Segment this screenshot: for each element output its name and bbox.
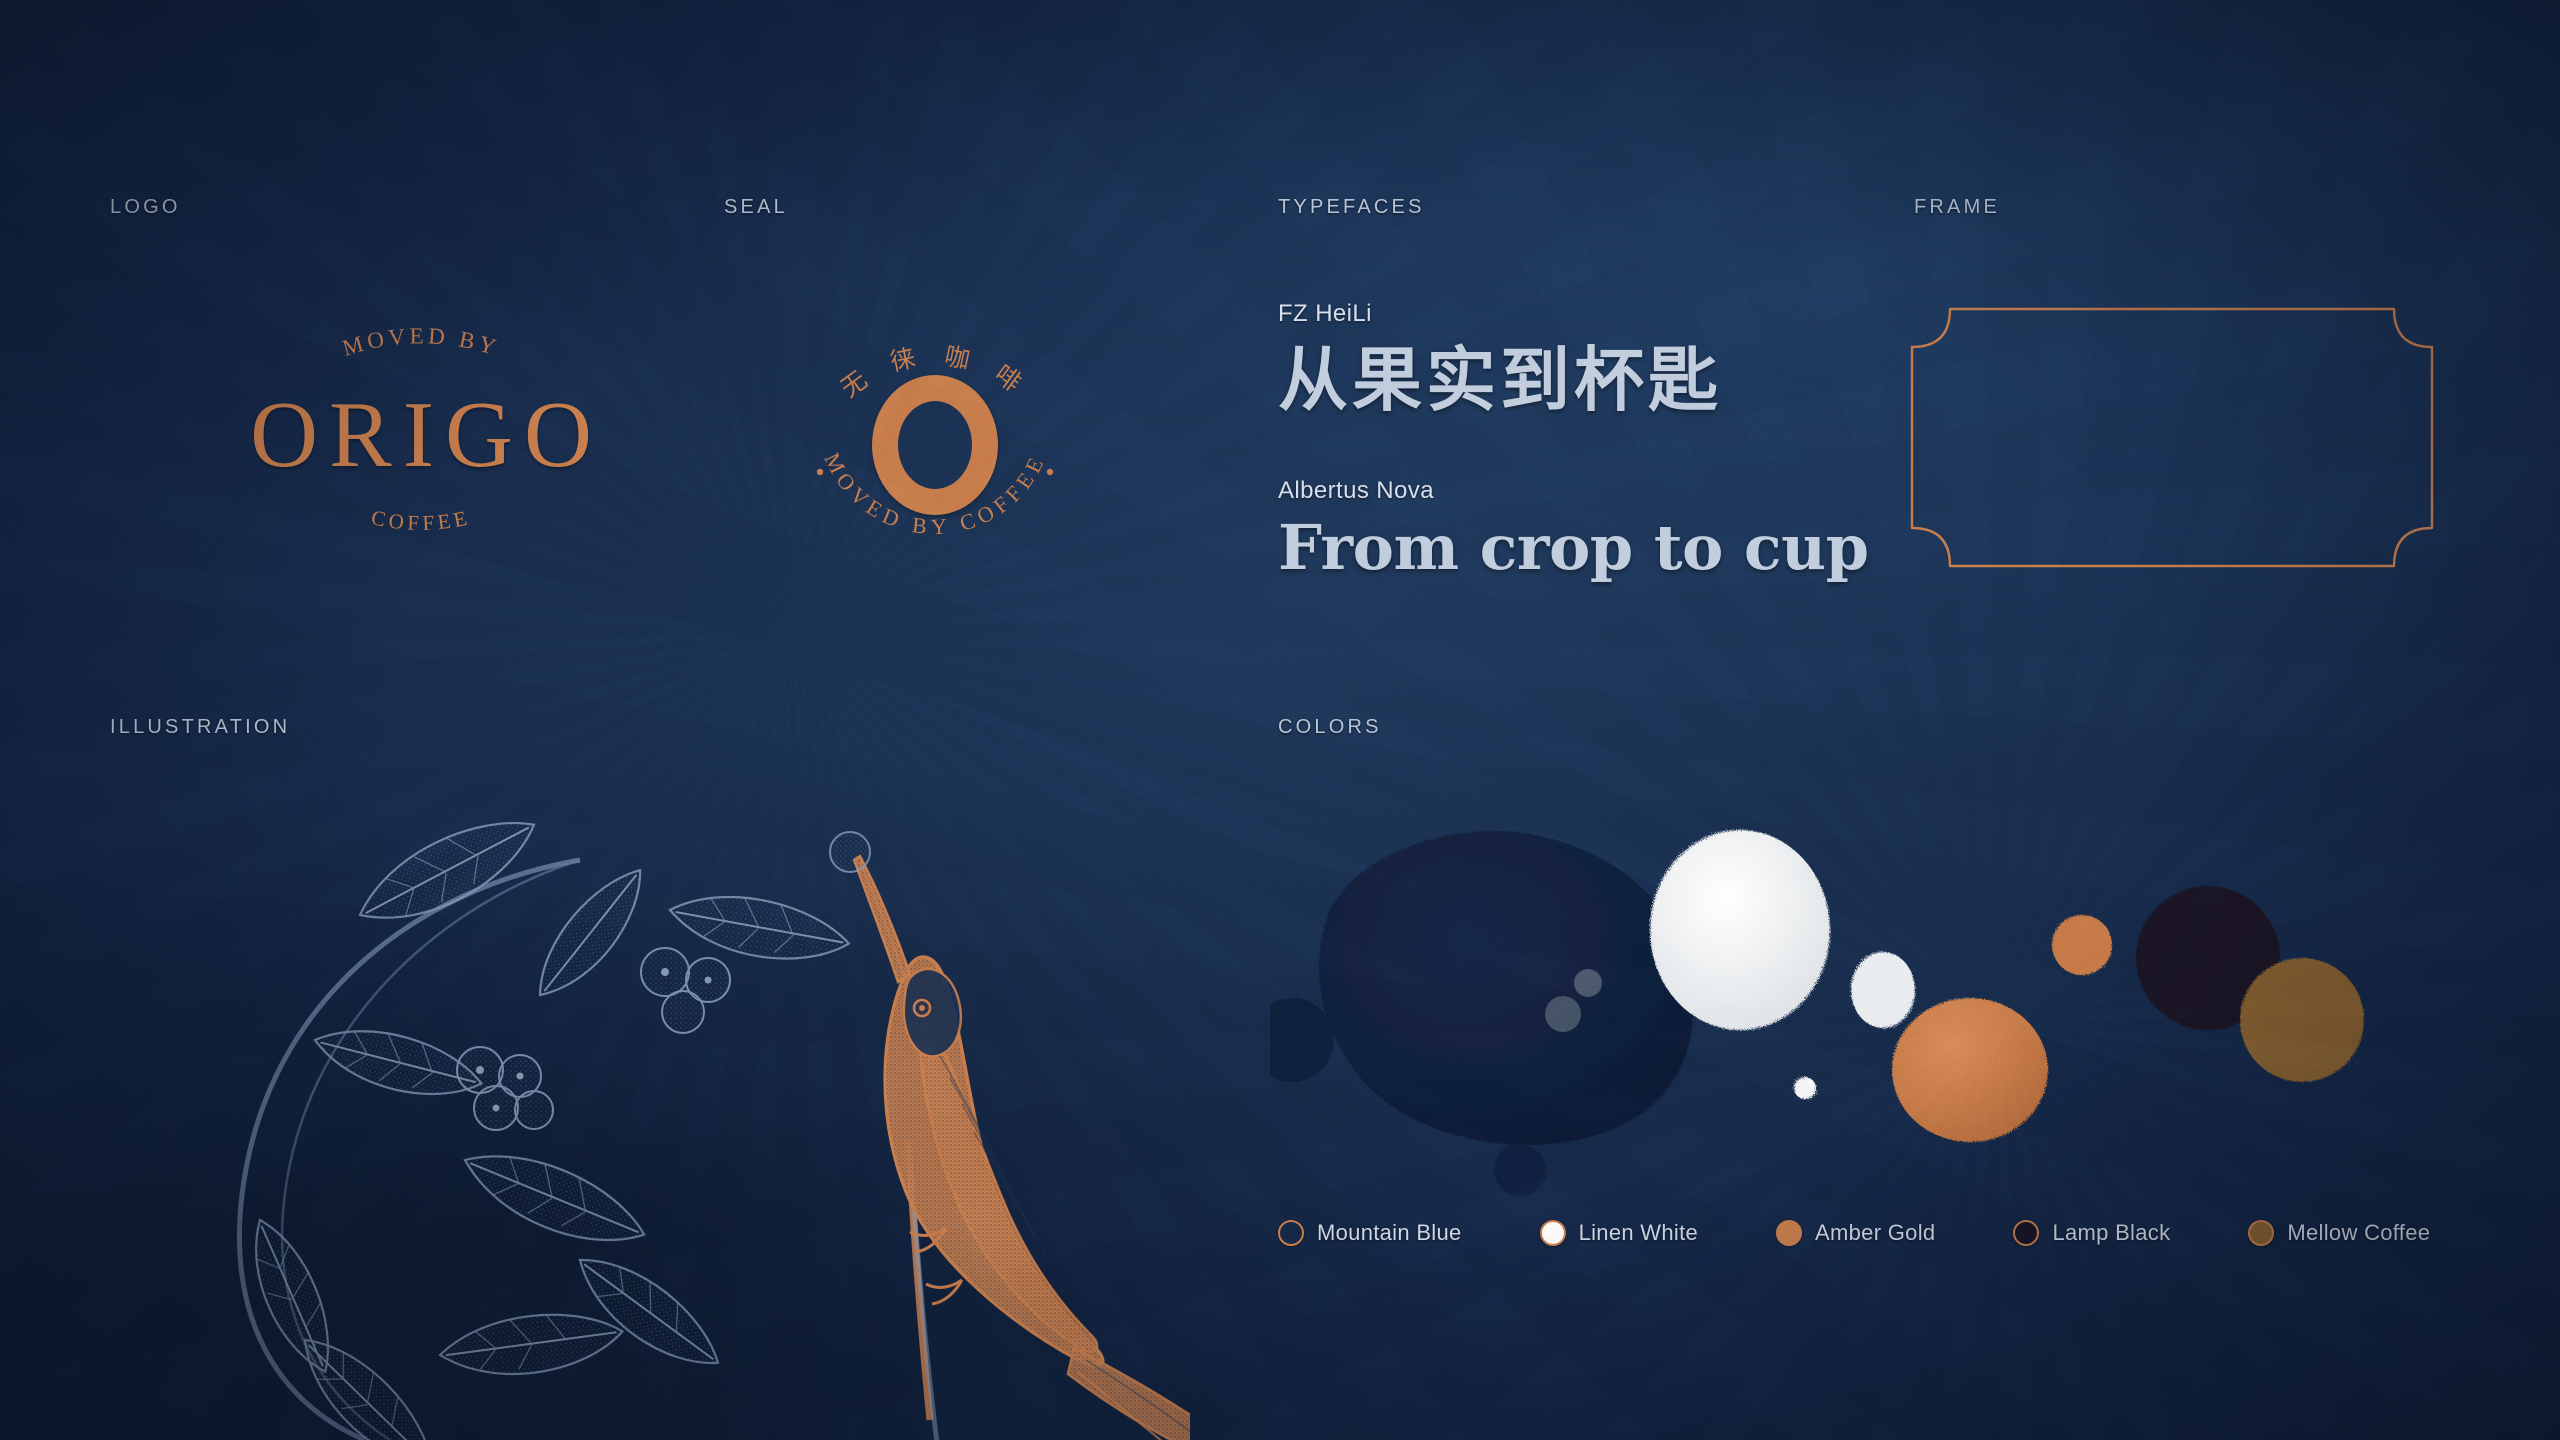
section-label-logo: LOGO bbox=[110, 196, 181, 219]
blob-speck-1 bbox=[1574, 969, 1602, 997]
swatch-label-amber-gold: Amber Gold bbox=[1815, 1220, 1935, 1246]
blob-linen-white bbox=[1650, 830, 1915, 1099]
color-swatch-legend: Mountain Blue Linen White Amber Gold Lam… bbox=[1278, 1220, 2508, 1246]
blob-mountain-blue bbox=[1270, 831, 1693, 1196]
illustration-svg bbox=[110, 740, 1190, 1440]
blob-mellow-coffee bbox=[2240, 958, 2364, 1082]
section-label-seal: SEAL bbox=[724, 196, 788, 219]
illustration-artwork bbox=[110, 740, 1190, 1440]
bird-illustration bbox=[830, 832, 1190, 1440]
typeface-sample-1: 从果实到杯匙 bbox=[1278, 342, 1898, 419]
logo-wordmark: ORIGO bbox=[196, 388, 646, 482]
swatch-mellow-coffee[interactable]: Mellow Coffee bbox=[2248, 1220, 2430, 1246]
coffee-branch-illustration bbox=[235, 798, 854, 1440]
swatch-lamp-black[interactable]: Lamp Black bbox=[2013, 1220, 2170, 1246]
seal-dot-right bbox=[1047, 469, 1053, 475]
logo-arc-top-text: MOVED BY bbox=[340, 323, 503, 360]
brand-identity-board: LOGO SEAL TYPEFACES FRAME ILLUSTRATION C… bbox=[0, 0, 2560, 1440]
swatch-dot-amber-gold bbox=[1776, 1220, 1802, 1246]
section-label-colors: COLORS bbox=[1278, 716, 1382, 739]
swatch-label-mellow-coffee: Mellow Coffee bbox=[2287, 1220, 2430, 1246]
swatch-dot-mellow-coffee bbox=[2248, 1220, 2274, 1246]
blob-amber-gold bbox=[1892, 915, 2112, 1142]
frame-outline bbox=[1908, 305, 2436, 570]
blob-speck-2 bbox=[1545, 996, 1581, 1032]
typeface-name-1: FZ HeiLi bbox=[1278, 300, 1898, 328]
typeface-item-1: FZ HeiLi 从果实到杯匙 bbox=[1278, 300, 1898, 419]
seal-center-o bbox=[872, 375, 998, 515]
seal-dot-left bbox=[817, 469, 823, 475]
swatch-amber-gold[interactable]: Amber Gold bbox=[1776, 1220, 1935, 1246]
swatch-mountain-blue[interactable]: Mountain Blue bbox=[1278, 1220, 1462, 1246]
swatch-linen-white[interactable]: Linen White bbox=[1540, 1220, 1698, 1246]
swatch-dot-mountain-blue bbox=[1278, 1220, 1304, 1246]
swatch-label-linen-white: Linen White bbox=[1579, 1220, 1698, 1246]
logo-arc-bottom-text: COFFEE bbox=[369, 505, 472, 535]
swatch-label-mountain-blue: Mountain Blue bbox=[1317, 1220, 1462, 1246]
logo-lockup: MOVED BY ORIGO COFFEE bbox=[196, 300, 646, 550]
typeface-item-2: Albertus Nova From crop to cup bbox=[1278, 477, 1898, 582]
swatch-dot-linen-white bbox=[1540, 1220, 1566, 1246]
logo-arc-bottom: COFFEE bbox=[196, 486, 646, 576]
frame-sample bbox=[1908, 305, 2436, 570]
color-blobs bbox=[1270, 740, 2500, 1220]
section-label-illustration: ILLUSTRATION bbox=[110, 716, 290, 739]
colors-panel: Mountain Blue Linen White Amber Gold Lam… bbox=[1270, 740, 2500, 1440]
section-label-typefaces: TYPEFACES bbox=[1278, 196, 1425, 219]
typefaces-panel: FZ HeiLi 从果实到杯匙 Albertus Nova From crop … bbox=[1278, 300, 1898, 582]
section-label-frame: FRAME bbox=[1914, 196, 2000, 219]
seal-badge: 无 徕 咖 啡 MOVED BY COFFEE bbox=[790, 300, 1080, 590]
typeface-name-2: Albertus Nova bbox=[1278, 477, 1898, 505]
swatch-dot-lamp-black bbox=[2013, 1220, 2039, 1246]
swatch-label-lamp-black: Lamp Black bbox=[2052, 1220, 2170, 1246]
typeface-sample-2: From crop to cup bbox=[1278, 515, 1898, 582]
